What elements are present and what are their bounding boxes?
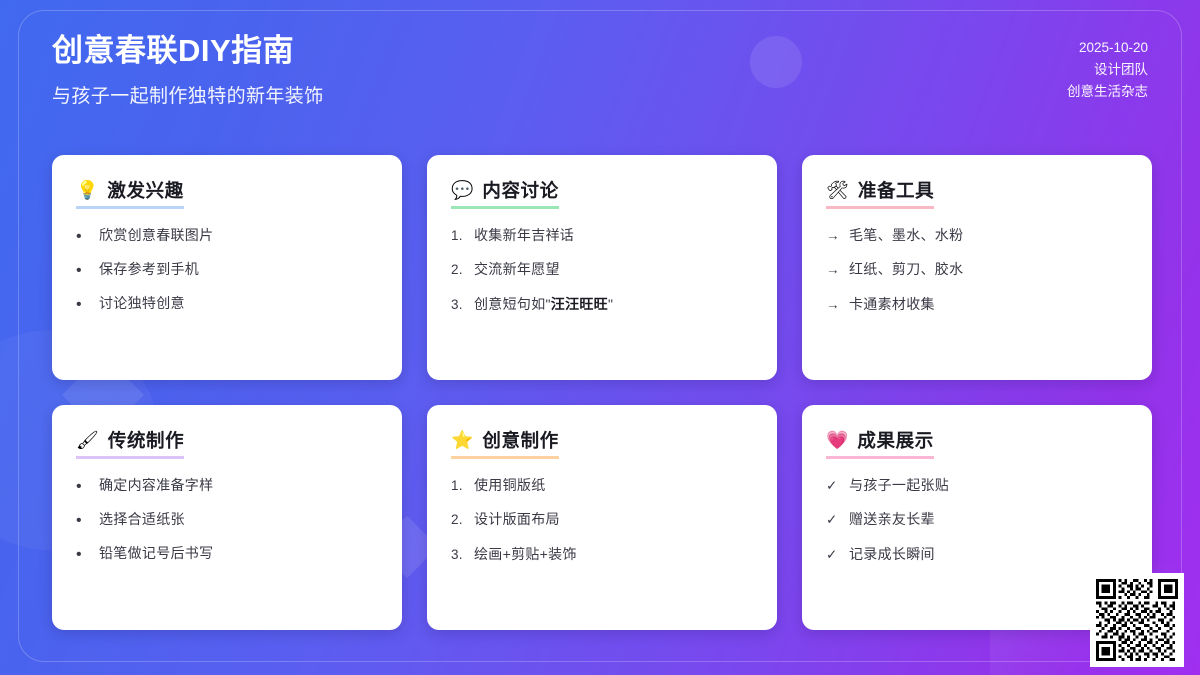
star-icon: ⭐ <box>451 431 473 449</box>
list-item-text: 收集新年吉祥话 <box>474 225 574 246</box>
list-item-text: 赠送亲友长辈 <box>849 509 935 530</box>
list-marker: ✓ <box>826 545 840 565</box>
list-marker: 2. <box>451 510 465 530</box>
card-title: 激发兴趣 <box>107 177 183 203</box>
heart-icon: 💗 <box>826 431 848 449</box>
list-item: ✓赠送亲友长辈 <box>826 509 1128 530</box>
card-header: 💗成果展示 <box>826 427 934 459</box>
page-title: 创意春联DIY指南 <box>52 32 324 71</box>
list-item: •讨论独特创意 <box>76 293 378 314</box>
content-card: ⭐创意制作1.使用铜版纸2.设计版面布局3.绘画+剪贴+装饰 <box>427 405 777 630</box>
list-marker: 3. <box>451 545 465 565</box>
list-item: •欣赏创意春联图片 <box>76 225 378 246</box>
list-item-text: 红纸、剪刀、胶水 <box>849 259 963 280</box>
poster-header: 创意春联DIY指南 与孩子一起制作独特的新年装饰 2025-10-20 设计团队… <box>0 0 1200 140</box>
list-marker: → <box>826 295 840 315</box>
list-item: ✓与孩子一起张贴 <box>826 475 1128 496</box>
header-meta-group: 2025-10-20 设计团队 创意生活杂志 <box>1067 37 1148 103</box>
list-item: •确定内容准备字样 <box>76 475 378 496</box>
card-header: 🖌传统制作 <box>76 427 184 459</box>
card-header: 💬内容讨论 <box>451 177 559 209</box>
list-marker: → <box>826 226 840 246</box>
card-title: 创意制作 <box>482 427 558 453</box>
card-list: 1.使用铜版纸2.设计版面布局3.绘画+剪贴+装饰 <box>451 475 753 565</box>
page-subtitle: 与孩子一起制作独特的新年装饰 <box>52 81 324 108</box>
list-item: ✓记录成长瞬间 <box>826 544 1128 565</box>
list-marker: 2. <box>451 260 465 280</box>
card-list: ✓与孩子一起张贴✓赠送亲友长辈✓记录成长瞬间 <box>826 475 1128 565</box>
list-marker: • <box>76 513 90 529</box>
list-item: 3.创意短句如"汪汪旺旺" <box>451 294 753 315</box>
card-title: 准备工具 <box>858 177 934 203</box>
list-item: →毛笔、墨水、水粉 <box>826 225 1128 246</box>
poster-canvas: 创意春联DIY指南 与孩子一起制作独特的新年装饰 2025-10-20 设计团队… <box>0 0 1200 675</box>
list-item-text: 设计版面布局 <box>474 509 560 530</box>
content-card: 🛠准备工具→毛笔、墨水、水粉→红纸、剪刀、胶水→卡通素材收集 <box>802 155 1152 380</box>
list-item: •铅笔做记号后书写 <box>76 543 378 564</box>
list-marker: ✓ <box>826 476 840 496</box>
card-title: 成果展示 <box>857 427 933 453</box>
card-list: •确定内容准备字样•选择合适纸张•铅笔做记号后书写 <box>76 475 378 564</box>
tools-icon: 🛠 <box>826 181 849 199</box>
header-left-group: 创意春联DIY指南 与孩子一起制作独特的新年装饰 <box>52 32 324 108</box>
list-item-text: 铅笔做记号后书写 <box>99 543 213 564</box>
list-item: →卡通素材收集 <box>826 294 1128 315</box>
list-marker: 1. <box>451 476 465 496</box>
list-item-text: 保存参考到手机 <box>99 259 199 280</box>
list-marker: • <box>76 547 90 563</box>
paintbrush-icon: 🖌 <box>76 431 99 449</box>
list-item: 1.收集新年吉祥话 <box>451 225 753 246</box>
content-card: 💬内容讨论1.收集新年吉祥话2.交流新年愿望3.创意短句如"汪汪旺旺" <box>427 155 777 380</box>
list-marker: → <box>826 260 840 280</box>
list-item: 1.使用铜版纸 <box>451 475 753 496</box>
list-item-text: 交流新年愿望 <box>474 259 560 280</box>
list-item-text: 选择合适纸张 <box>99 509 185 530</box>
list-item: →红纸、剪刀、胶水 <box>826 259 1128 280</box>
list-item-text: 毛笔、墨水、水粉 <box>849 225 963 246</box>
list-marker: 3. <box>451 295 465 315</box>
card-list: →毛笔、墨水、水粉→红纸、剪刀、胶水→卡通素材收集 <box>826 225 1128 315</box>
list-marker: • <box>76 297 90 313</box>
list-marker: 1. <box>451 226 465 246</box>
list-item: 2.交流新年愿望 <box>451 259 753 280</box>
speech-bubbles-icon: 💬 <box>451 181 473 199</box>
list-item: •保存参考到手机 <box>76 259 378 280</box>
list-marker: ✓ <box>826 510 840 530</box>
card-grid: 💡激发兴趣•欣赏创意春联图片•保存参考到手机•讨论独特创意💬内容讨论1.收集新年… <box>52 155 1152 630</box>
qr-code[interactable] <box>1090 573 1184 667</box>
list-item-text: 欣赏创意春联图片 <box>99 225 213 246</box>
list-item-text: 使用铜版纸 <box>474 475 546 496</box>
list-item-text: 绘画+剪贴+装饰 <box>474 544 577 565</box>
list-marker: • <box>76 263 90 279</box>
content-card: 🖌传统制作•确定内容准备字样•选择合适纸张•铅笔做记号后书写 <box>52 405 402 630</box>
list-item: 3.绘画+剪贴+装饰 <box>451 544 753 565</box>
card-title: 传统制作 <box>108 427 184 453</box>
card-header: 💡激发兴趣 <box>76 177 184 209</box>
list-item-text: 卡通素材收集 <box>849 294 935 315</box>
list-item-text: 与孩子一起张贴 <box>849 475 949 496</box>
lightbulb-icon: 💡 <box>76 181 98 199</box>
list-item: 2.设计版面布局 <box>451 509 753 530</box>
list-item-text: 记录成长瞬间 <box>849 544 935 565</box>
list-item: •选择合适纸张 <box>76 509 378 530</box>
header-date: 2025-10-20 <box>1067 37 1148 59</box>
card-title: 内容讨论 <box>482 177 558 203</box>
list-marker: • <box>76 229 90 245</box>
card-header: 🛠准备工具 <box>826 177 934 209</box>
list-item-text: 讨论独特创意 <box>99 293 185 314</box>
list-marker: • <box>76 479 90 495</box>
card-header: ⭐创意制作 <box>451 427 559 459</box>
header-team: 设计团队 <box>1067 59 1148 81</box>
list-item-text: 创意短句如"汪汪旺旺" <box>474 294 613 315</box>
content-card: 💡激发兴趣•欣赏创意春联图片•保存参考到手机•讨论独特创意 <box>52 155 402 380</box>
list-item-text: 确定内容准备字样 <box>99 475 213 496</box>
card-list: •欣赏创意春联图片•保存参考到手机•讨论独特创意 <box>76 225 378 314</box>
header-publication: 创意生活杂志 <box>1067 81 1148 103</box>
card-list: 1.收集新年吉祥话2.交流新年愿望3.创意短句如"汪汪旺旺" <box>451 225 753 315</box>
